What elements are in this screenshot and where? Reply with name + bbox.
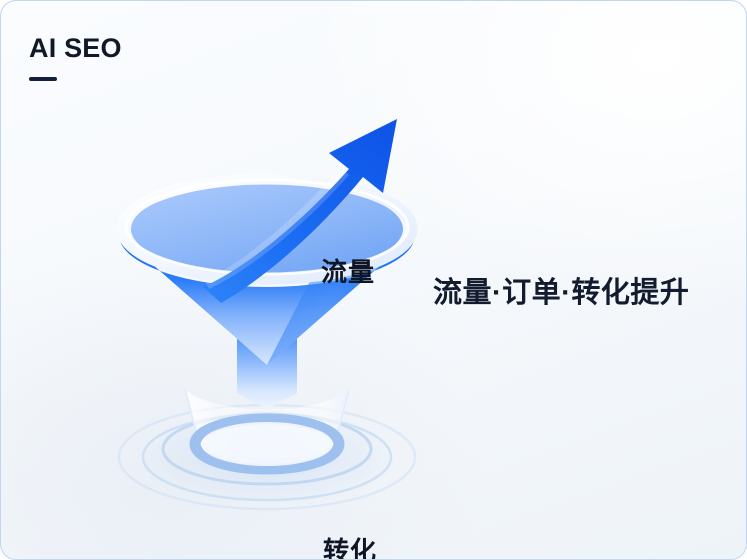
page-title: AI SEO	[29, 35, 122, 62]
label-conversion: 转化	[323, 531, 377, 560]
title-accent-bar	[29, 77, 57, 81]
vessel-base-inner	[201, 422, 333, 466]
label-traffic: 流量	[321, 252, 375, 289]
headline-text: 流量·订单·转化提升	[433, 278, 689, 310]
poster-canvas: AI SEO 流量·订单·转化提升	[0, 0, 747, 560]
brand-title-block: AI SEO	[29, 35, 122, 81]
funnel-illustration: 流量 转化	[97, 97, 437, 527]
